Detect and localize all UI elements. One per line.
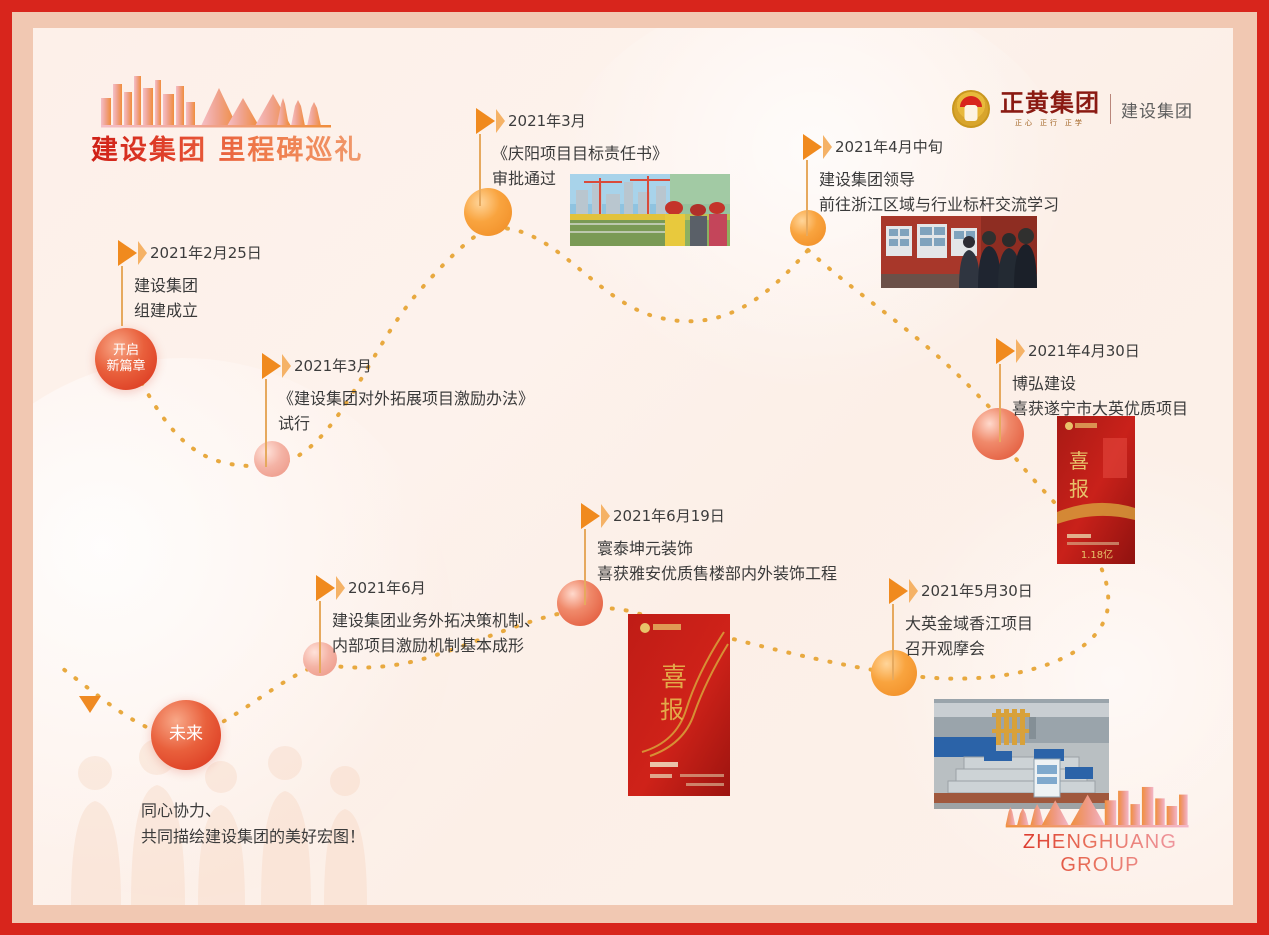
milestone-date: 2021年5月30日 <box>921 580 1033 601</box>
milestone-desc-line1: 大英金域香江项目 <box>905 612 1033 637</box>
brand-unit: 建设集团 <box>1121 97 1193 122</box>
node-stem <box>584 529 586 605</box>
brand-logo: 正黄集团 正心 正行 正学 建设集团 <box>952 90 1193 128</box>
footer-brand-mark: ZHENGHUANG GROUP <box>995 783 1205 877</box>
svg-text:报: 报 <box>660 696 684 724</box>
bubble-start: 开启 新篇章 <box>95 328 157 390</box>
page-title: 建设集团 里程碑巡礼 <box>91 128 363 167</box>
milestone-desc: 大英金域香江项目 召开观摩会 <box>905 612 1033 662</box>
milestone-desc-line1: 建设集团业务外拓决策机制、 <box>332 609 540 634</box>
node-sphere-m6 <box>557 580 603 626</box>
node-stem <box>806 160 808 236</box>
bubble-start-line2: 新篇章 <box>106 359 145 375</box>
milestone-desc: 建设集团 组建成立 <box>134 274 198 324</box>
milestone-desc: 建设集团领导 前往浙江区域与行业标杆交流学习 <box>819 168 1059 218</box>
node-stem <box>999 364 1001 442</box>
bubble-future: 未来 <box>151 700 221 770</box>
milestone-date: 2021年4月30日 <box>1028 340 1140 361</box>
bubble-future-label: 未来 <box>169 724 203 745</box>
node-stem <box>265 379 267 467</box>
chevron-right-icon <box>823 135 832 159</box>
flag-icon <box>476 108 495 134</box>
chevron-right-icon <box>601 504 610 528</box>
flag-icon <box>118 240 137 266</box>
milestone-date: 2021年3月 <box>508 110 586 131</box>
closing-statement: 同心协力、 共同描绘建设集团的美好宏图！ <box>141 798 365 849</box>
node-stem <box>121 266 123 326</box>
svg-text:1.18亿: 1.18亿 <box>1081 548 1113 561</box>
footer-brand-text: ZHENGHUANG GROUP <box>995 831 1205 877</box>
node-stem <box>479 134 481 206</box>
photo-red-announcement-poster[interactable]: 喜 报 1.18亿 <box>1057 416 1135 564</box>
milestone-desc: 博弘建设 喜获遂宁市大英优质项目 <box>1012 372 1188 422</box>
milestone-poster: 建设集团 里程碑巡礼 正黄集团 正心 正行 正学 建设集团 开启 新篇章 未来 <box>0 0 1269 935</box>
milestone-desc-line2: 内部项目激励机制基本成形 <box>332 634 540 659</box>
timeline-end-arrow-icon <box>79 696 101 713</box>
milestone-desc-line2: 喜获雅安优质售楼部内外装饰工程 <box>597 562 837 587</box>
poster-stage: 建设集团 里程碑巡礼 正黄集团 正心 正行 正学 建设集团 开启 新篇章 未来 <box>33 28 1233 905</box>
milestone-desc-line1: 建设集团领导 <box>819 168 1059 193</box>
bubble-start-line1: 开启 <box>106 343 145 359</box>
chevron-right-icon <box>1016 339 1025 363</box>
flag-icon <box>803 134 822 160</box>
brand-motto: 正心 正行 正学 <box>1000 118 1100 128</box>
svg-text:喜: 喜 <box>1069 449 1089 473</box>
zhenghuang-seal-icon <box>952 90 990 128</box>
chevron-right-icon <box>496 109 505 133</box>
chevron-right-icon <box>909 579 918 603</box>
milestone-desc-line1: 《庆阳项目目标责任书》 <box>492 142 668 167</box>
node-stem <box>319 601 321 673</box>
milestone-desc-line2: 召开观摩会 <box>905 637 1033 662</box>
milestone-desc-line1: 《建设集团对外拓展项目激励办法》 <box>278 387 534 412</box>
milestone-desc-line1: 寰泰坤元装饰 <box>597 537 837 562</box>
node-sphere-m2 <box>254 441 290 477</box>
brand-divider <box>1110 94 1111 124</box>
photo-red-celebration-poster[interactable]: 喜 报 <box>628 614 730 796</box>
milestone-date: 2021年2月25日 <box>150 242 262 263</box>
skyline-watermark-icon <box>1000 783 1200 829</box>
milestone-date: 2021年4月中旬 <box>835 136 943 157</box>
milestone-desc: 建设集团业务外拓决策机制、 内部项目激励机制基本成形 <box>332 609 540 659</box>
closing-line1: 同心协力、 <box>141 798 365 824</box>
milestone-desc-line2: 试行 <box>278 412 534 437</box>
photo-exhibition-visit[interactable] <box>881 216 1037 288</box>
milestone-desc-line1: 博弘建设 <box>1012 372 1188 397</box>
skyline-art-icon <box>95 68 345 130</box>
milestone-date: 2021年6月 <box>348 577 426 598</box>
milestone-desc-line1: 建设集团 <box>134 274 198 299</box>
flag-icon <box>889 578 908 604</box>
flag-icon <box>996 338 1015 364</box>
milestone-desc: 《建设集团对外拓展项目激励办法》 试行 <box>278 387 534 437</box>
photo-construction-site-inspection[interactable] <box>570 174 730 246</box>
closing-line2: 共同描绘建设集团的美好宏图！ <box>141 824 365 850</box>
milestone-desc-line2: 组建成立 <box>134 299 198 324</box>
flag-icon <box>262 353 281 379</box>
svg-text:报: 报 <box>1069 477 1089 501</box>
page-title-text: 建设集团 里程碑巡礼 <box>91 128 363 167</box>
flag-icon <box>316 575 335 601</box>
milestone-date: 2021年3月 <box>294 355 372 376</box>
milestone-desc-line2: 前往浙江区域与行业标杆交流学习 <box>819 193 1059 218</box>
brand-name: 正黄集团 <box>1000 91 1100 115</box>
chevron-right-icon <box>336 576 345 600</box>
milestone-date: 2021年6月19日 <box>613 505 725 526</box>
chevron-right-icon <box>282 354 291 378</box>
svg-text:喜: 喜 <box>661 663 687 693</box>
flag-icon <box>581 503 600 529</box>
node-stem <box>892 604 894 680</box>
chevron-right-icon <box>138 241 147 265</box>
milestone-desc: 寰泰坤元装饰 喜获雅安优质售楼部内外装饰工程 <box>597 537 837 587</box>
node-sphere-m3 <box>464 188 512 236</box>
